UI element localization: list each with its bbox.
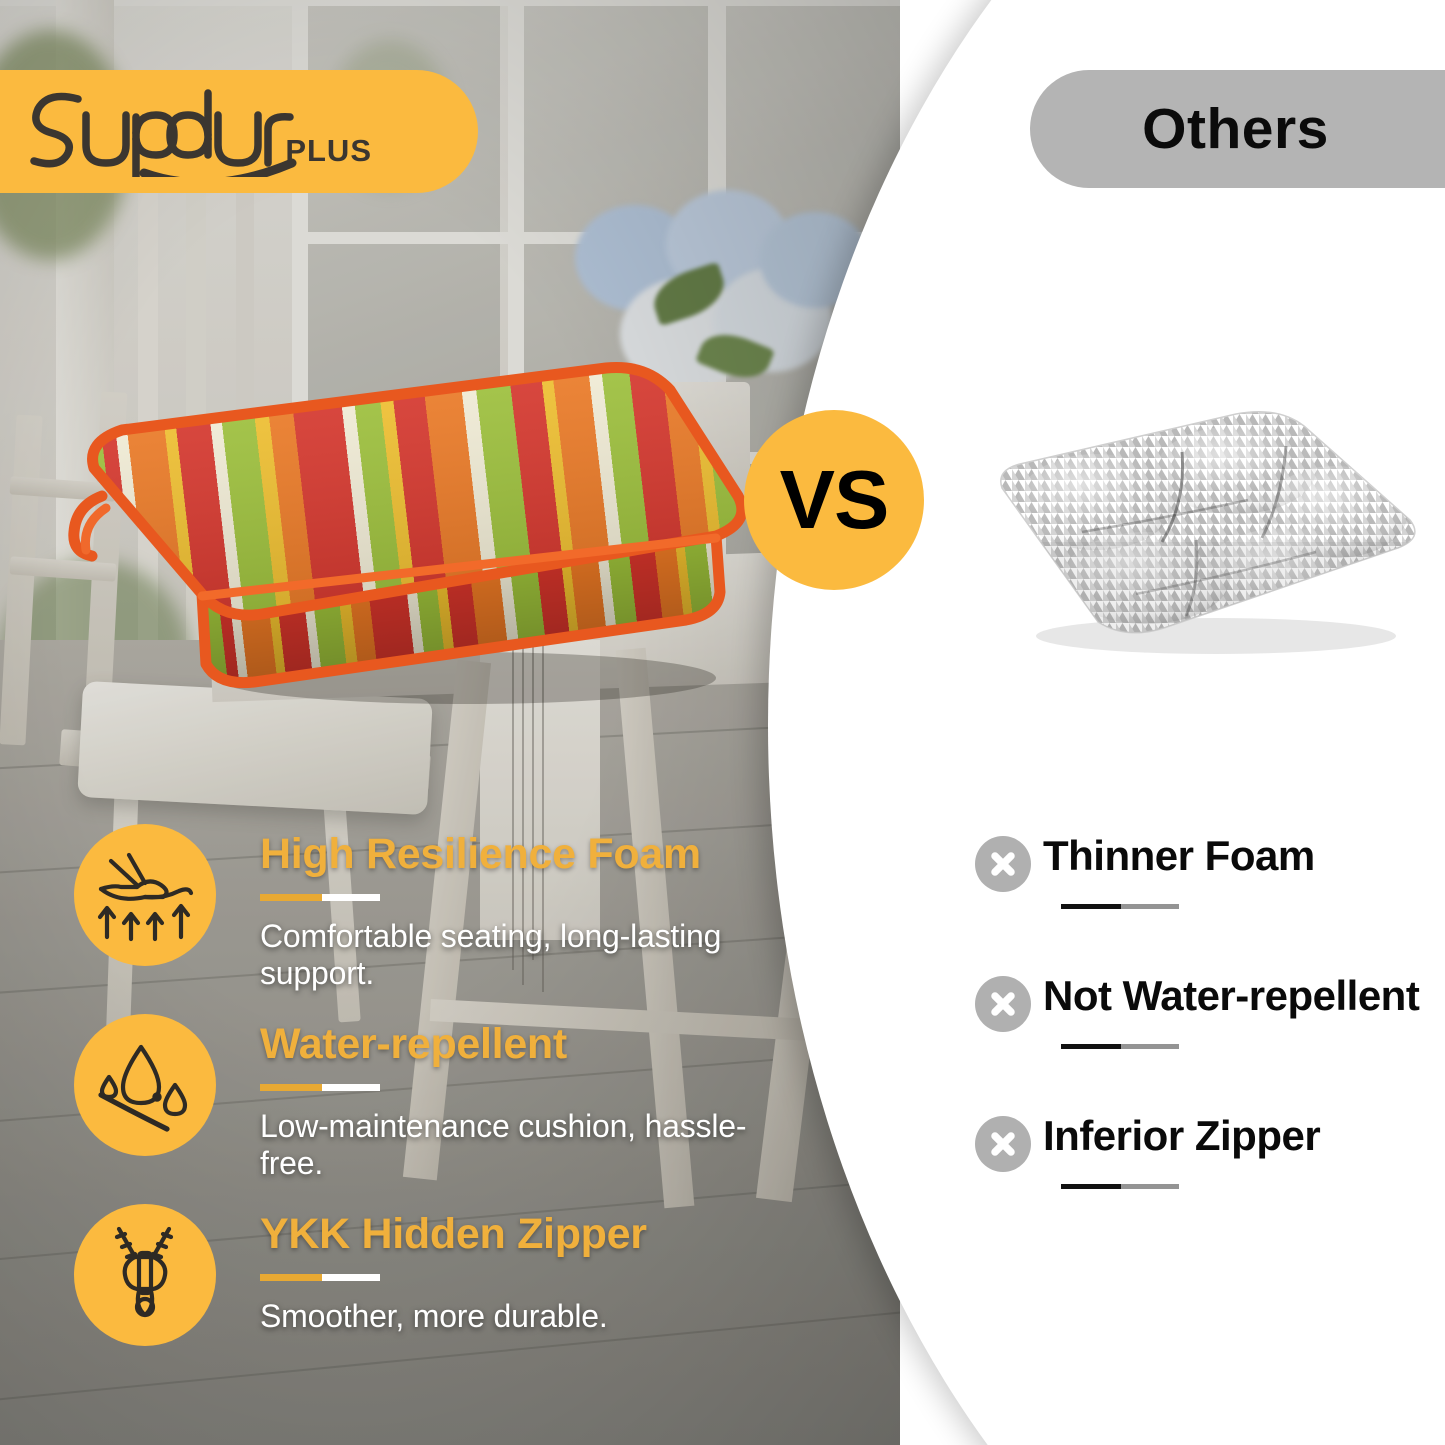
con-row-inferior-zipper: Inferior Zipper [975, 1112, 1445, 1252]
con-title: Not Water-repellent [1043, 972, 1419, 1020]
feature-description: Comfortable seating, long-lasting suppor… [260, 918, 794, 992]
cushion-tie-straps [74, 496, 106, 556]
vs-label: VS [780, 452, 889, 548]
hand-support-arrows-icon [74, 824, 216, 966]
circle-x-icon [975, 976, 1031, 1032]
con-divider [1061, 904, 1179, 909]
hero-product-striped-cushion [78, 352, 718, 674]
feature-title: High Resilience Foam [260, 830, 701, 879]
con-row-not-water-repellent: Not Water-repellent [975, 972, 1445, 1112]
competitor-drawback-list: Thinner Foam Not Water-repellent Inferio… [975, 832, 1445, 1252]
feature-row-ykk-hidden-zipper: YKK Hidden Zipper Smoother, more durable… [74, 1198, 794, 1388]
con-divider [1061, 1184, 1179, 1189]
feature-divider [260, 1274, 380, 1281]
feature-row-water-repellent: Water-repellent Low-maintenance cushion,… [74, 1008, 794, 1198]
feature-row-high-resilience-foam: High Resilience Foam Comfortable seating… [74, 818, 794, 1008]
competitor-product-image [986, 392, 1426, 672]
con-title: Inferior Zipper [1043, 1112, 1320, 1160]
feature-divider [260, 1084, 380, 1091]
brand-logo-badge: PLUS [0, 70, 478, 193]
feature-description: Low-maintenance cushion, hassle-free. [260, 1108, 794, 1182]
feature-title: Water-repellent [260, 1020, 567, 1069]
water-droplet-repel-icon [74, 1014, 216, 1156]
vs-badge: VS [744, 410, 924, 590]
con-row-thinner-foam: Thinner Foam [975, 832, 1445, 972]
feature-title: YKK Hidden Zipper [260, 1210, 647, 1259]
others-badge: Others [1030, 70, 1445, 188]
feature-description: Smoother, more durable. [260, 1298, 608, 1335]
circle-x-icon [975, 1116, 1031, 1172]
comparison-infographic: PLUS Others VS [0, 0, 1445, 1445]
logo-plus-label: PLUS [285, 133, 372, 169]
circle-x-icon [975, 836, 1031, 892]
others-label: Others [1142, 96, 1329, 162]
supdur-wordmark-icon [22, 77, 322, 177]
feature-list: High Resilience Foam Comfortable seating… [74, 818, 794, 1388]
con-title: Thinner Foam [1043, 832, 1315, 880]
con-divider [1061, 1044, 1179, 1049]
zipper-icon [74, 1204, 216, 1346]
feature-divider [260, 894, 380, 901]
